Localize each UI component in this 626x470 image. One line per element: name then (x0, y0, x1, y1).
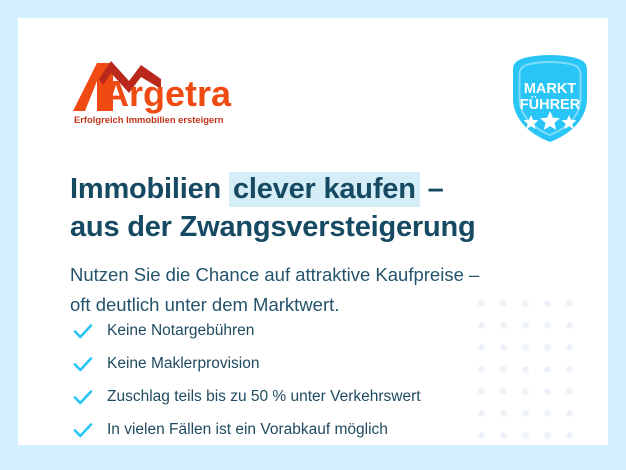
headline-line2: aus der Zwangsversteigerung (70, 211, 476, 243)
benefits-checklist: Keine Notargebühren Keine Maklerprovisio… (72, 314, 502, 445)
argetra-logo[interactable]: Argetra Erfolgreich Immobilien ersteiger… (73, 59, 273, 127)
dot (566, 322, 573, 329)
headline-text-post: – (420, 173, 444, 205)
list-item-label: Keine Notargebühren (107, 321, 254, 341)
list-item-label: Keine Maklerprovision (107, 354, 260, 374)
dot (522, 344, 529, 351)
dot (566, 366, 573, 373)
dot (566, 388, 573, 395)
subtitle-line1: Nutzen Sie die Chance auf attraktive Kau… (70, 264, 479, 285)
dot (566, 300, 573, 307)
dot (544, 344, 551, 351)
list-item: Keine Notargebühren (72, 314, 502, 347)
dot (522, 410, 529, 417)
headline-text-pre: Immobilien (70, 173, 229, 205)
list-item: In vielen Fällen ist ein Vorabkauf mögli… (72, 413, 502, 445)
dot (566, 410, 573, 417)
dot (522, 388, 529, 395)
dot (522, 366, 529, 373)
headline-highlight: clever kaufen (229, 172, 420, 207)
dot (566, 344, 573, 351)
check-icon (72, 386, 94, 408)
dot (522, 322, 529, 329)
market-leader-badge: MARKT FÜHRER (507, 53, 593, 145)
list-item-label: Zuschlag teils bis zu 50 % unter Verkehr… (107, 387, 421, 407)
badge-line2: FÜHRER (520, 96, 581, 113)
dot (544, 366, 551, 373)
logo-wordmark: Argetra (103, 73, 232, 114)
dot (522, 432, 529, 439)
dot (544, 432, 551, 439)
list-item: Keine Maklerprovision (72, 347, 502, 380)
list-item-label: In vielen Fällen ist ein Vorabkauf mögli… (107, 420, 388, 440)
dot (544, 410, 551, 417)
headline-line1: Immobilien clever kaufen – (70, 172, 444, 207)
dot (566, 432, 573, 439)
check-icon (72, 320, 94, 342)
dot (544, 388, 551, 395)
subtitle: Nutzen Sie die Chance auf attraktive Kau… (70, 260, 550, 320)
logo-tagline: Erfolgreich Immobilien ersteigern (74, 114, 224, 125)
dot (544, 322, 551, 329)
badge-line1: MARKT (524, 81, 576, 97)
banner-card: Argetra Erfolgreich Immobilien ersteiger… (18, 18, 608, 445)
list-item: Zuschlag teils bis zu 50 % unter Verkehr… (72, 380, 502, 413)
subtitle-line2: oft deutlich unter dem Marktwert. (70, 294, 339, 315)
check-icon (72, 419, 94, 441)
promo-banner: Argetra Erfolgreich Immobilien ersteiger… (0, 0, 626, 470)
check-icon (72, 353, 94, 375)
page-title: Immobilien clever kaufen – aus der Zwang… (70, 170, 540, 246)
